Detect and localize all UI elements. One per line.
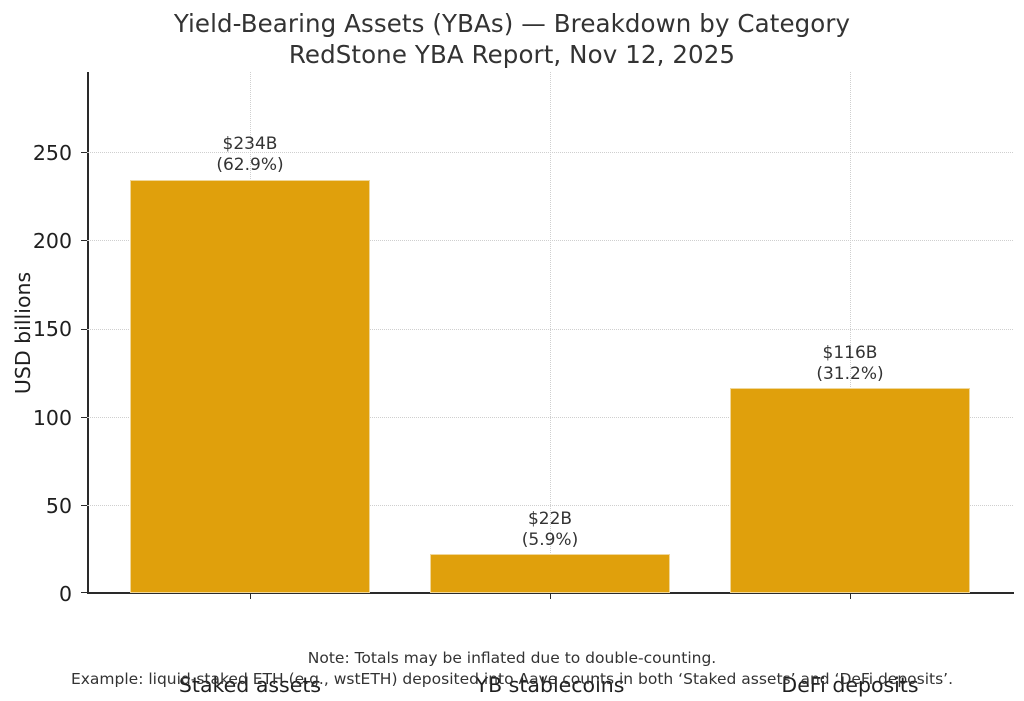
bar-value-percent: (5.9%) (522, 530, 578, 551)
bar-defi-deposits[interactable] (730, 388, 970, 593)
bar-value-label-defi-deposits: $116B (31.2%) (816, 343, 883, 385)
y-tick-mark (81, 417, 87, 418)
y-tick-label: 100 (0, 406, 72, 430)
plot-area: $234B (62.9%) $22B (5.9%) $116B (31.2%) … (87, 72, 1013, 593)
bar-value-percent: (62.9%) (216, 155, 283, 176)
chart-title-block: Yield-Bearing Assets (YBAs) — Breakdown … (0, 8, 1024, 70)
bar-value-amount: $116B (816, 343, 883, 364)
bar-value-label-staked-assets: $234B (62.9%) (216, 134, 283, 176)
y-tick-mark (81, 240, 87, 241)
y-tick-label: 50 (0, 494, 72, 518)
bar-value-amount: $22B (522, 509, 578, 530)
chart-subtitle: RedStone YBA Report, Nov 12, 2025 (0, 39, 1024, 70)
x-tick-mark (250, 593, 251, 599)
chart-footnote: Note: Totals may be inflated due to doub… (0, 648, 1024, 690)
bar-staked-assets[interactable] (130, 180, 370, 593)
footnote-line-note: Note: Totals may be inflated due to doub… (0, 648, 1024, 669)
x-tick-mark (850, 593, 851, 599)
y-tick-label: 250 (0, 141, 72, 165)
y-tick-label: 200 (0, 229, 72, 253)
bar-yb-stablecoins[interactable] (430, 554, 670, 593)
bar-value-label-yb-stablecoins: $22B (5.9%) (522, 509, 578, 551)
chart-title: Yield-Bearing Assets (YBAs) — Breakdown … (0, 8, 1024, 39)
x-tick-mark (550, 593, 551, 599)
y-tick-label: 0 (0, 582, 72, 606)
bar-value-percent: (31.2%) (816, 364, 883, 385)
chart-figure: Yield-Bearing Assets (YBAs) — Breakdown … (0, 0, 1024, 701)
y-tick-mark (81, 592, 87, 593)
bar-value-amount: $234B (216, 134, 283, 155)
y-tick-mark (81, 329, 87, 330)
y-tick-label: 150 (0, 317, 72, 341)
y-tick-mark (81, 152, 87, 153)
y-tick-mark (81, 505, 87, 506)
footnote-line-example: Example: liquid-staked ETH (e.g., wstETH… (0, 669, 1024, 690)
